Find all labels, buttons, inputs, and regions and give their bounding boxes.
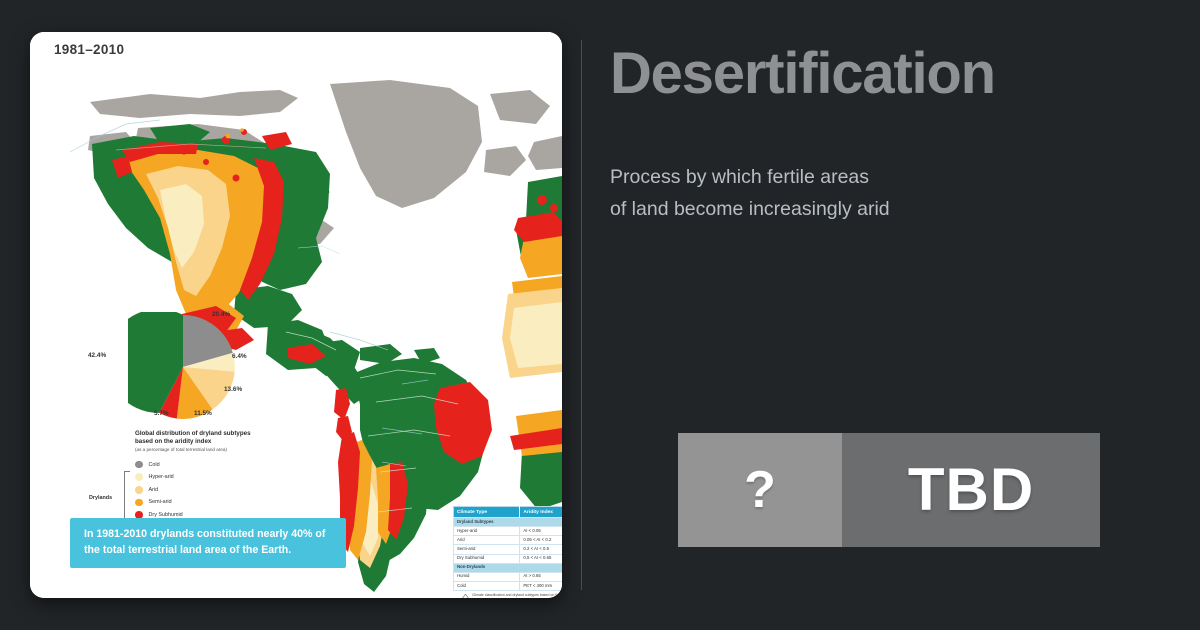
tbd-badge[interactable]: ? TBD: [678, 433, 1100, 547]
table-cell: Humid: [454, 572, 520, 581]
table-cell: Semi-arid: [454, 545, 520, 554]
table-cell: Cold: [454, 581, 520, 590]
pie-label-semi-arid: 11.5%: [194, 410, 212, 417]
pie-label-humid: 42.4%: [88, 352, 106, 359]
table-cell: Arid: [454, 536, 520, 545]
legend-label-cold: Cold: [149, 462, 160, 468]
panel-divider: [581, 40, 582, 590]
legend-swatch-semi-arid-icon: [135, 499, 143, 507]
legend-item-arid: Arid: [135, 484, 302, 497]
table-cell: Dryland Subtypes: [454, 518, 563, 527]
table-row: Semi-arid 0.2 < AI < 0.5: [454, 545, 563, 554]
legend-item-cold: Cold: [135, 458, 302, 471]
table-cell: Hyper-arid: [454, 527, 520, 536]
table-row: Hyper-arid AI < 0.05: [454, 527, 563, 536]
legend-swatch-cold-icon: [135, 461, 143, 469]
map-card: 1981–2010 20.4% 6.4% 13.6% 11.5% 5.7% 42…: [30, 32, 562, 598]
legend-label-dry-subhumid: Dry Subhumid: [149, 512, 183, 518]
page-title: Desertification: [610, 45, 995, 103]
legend-subtitle: (as a percentage of total terrestrial la…: [135, 447, 302, 453]
legend-label-semi-arid: Semi-arid: [149, 499, 172, 505]
table-row: Humid AI > 0.65: [454, 572, 563, 581]
table-row: Arid 0.05 < AI < 0.2: [454, 536, 563, 545]
legend-swatch-arid-icon: [135, 486, 143, 494]
legend-title-line2: based on the aridity index: [135, 438, 302, 446]
footnote-line1: Climate classification and dryland subty…: [472, 593, 562, 598]
climate-type-table: Climate Type Aridity Index Dryland Subty…: [453, 506, 562, 591]
table-cell: 0.5 < AI < 0.65: [520, 554, 562, 563]
map-footnote: Climate classification and dryland subty…: [462, 593, 562, 598]
legend-title-line1: Global distribution of dryland subtypes: [135, 430, 302, 438]
table-header-row: Climate Type Aridity Index: [454, 507, 563, 518]
question-mark-icon: ?: [678, 433, 842, 547]
pie-svg: [128, 312, 238, 422]
table-cell: AI > 0.65: [520, 572, 562, 581]
table-row: Dryland Subtypes: [454, 518, 563, 527]
drylands-group-label: Drylands: [89, 495, 112, 501]
right-panel: Desertification Process by which fertile…: [610, 0, 1170, 630]
table-header-climate-type: Climate Type: [454, 507, 520, 518]
page-subtitle-line2: of land become increasingly arid: [610, 194, 1030, 226]
table-header-aridity-index: Aridity Index: [520, 507, 562, 518]
legend-item-hyper-arid: Hyper-arid: [135, 471, 302, 484]
map-caption-banner: In 1981-2010 drylands constituted nearly…: [70, 518, 346, 568]
table-cell: 0.05 < AI < 0.2: [520, 536, 562, 545]
table-cell: Dry Subhumid: [454, 554, 520, 563]
legend-swatch-hyper-arid-icon: [135, 473, 143, 481]
pie-label-hyper-arid: 6.4%: [232, 353, 247, 360]
table-row: Non-Drylands: [454, 563, 563, 572]
caret-up-icon: [462, 594, 469, 598]
tbd-label: TBD: [842, 433, 1100, 547]
legend-label-arid: Arid: [149, 487, 159, 493]
table-cell: 0.2 < AI < 0.5: [520, 545, 562, 554]
table-cell: AI < 0.05: [520, 527, 562, 536]
pie-label-arid: 13.6%: [224, 386, 242, 393]
table-row: Cold PET < 400 mm: [454, 581, 563, 590]
pie-label-dry-subhumid: 5.7%: [154, 410, 169, 417]
table-row: Dry Subhumid 0.5 < AI < 0.65: [454, 554, 563, 563]
map-year-label: 1981–2010: [54, 42, 124, 57]
legend-label-hyper-arid: Hyper-arid: [149, 474, 174, 480]
dryland-pie-chart: 20.4% 6.4% 13.6% 11.5% 5.7% 42.4%: [102, 300, 282, 440]
page-subtitle-line1: Process by which fertile areas: [610, 162, 1030, 194]
legend-item-semi-arid: Semi-arid: [135, 496, 302, 509]
page-subtitle: Process by which fertile areas of land b…: [610, 162, 1030, 225]
pie-label-cold: 20.4%: [212, 311, 230, 318]
table-cell: Non-Drylands: [454, 563, 563, 572]
table-cell: PET < 400 mm: [520, 581, 562, 590]
